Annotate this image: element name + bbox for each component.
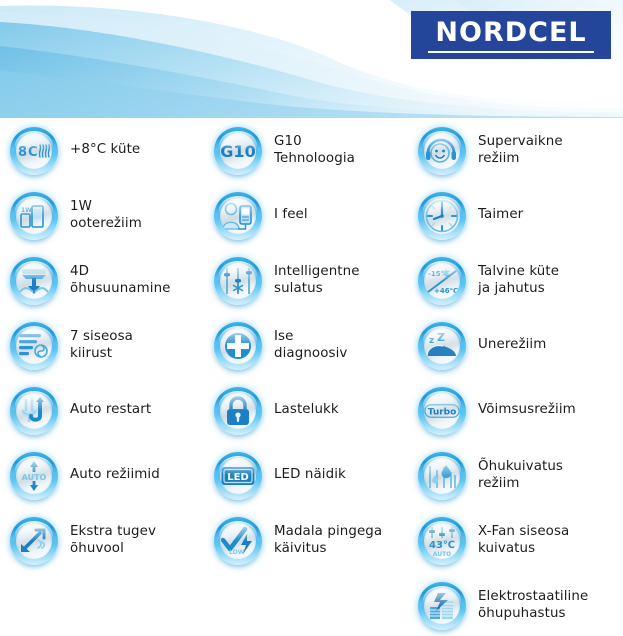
- winter-heating-cooling-icon: -15℃ +46℃: [418, 257, 466, 305]
- feature-item: AUTO Auto režiimid: [4, 443, 209, 508]
- self-diagnosis-icon: [214, 322, 262, 370]
- feature-column-2: G10 G10 Tehnoloogia: [208, 118, 413, 573]
- feature-label: Ise diagnoosiv: [274, 329, 347, 363]
- auto-restart-icon: [10, 387, 58, 435]
- feature-label: 4D õhusuunamine: [70, 264, 171, 298]
- feature-label: X-Fan siseosa kuivatus: [478, 524, 569, 558]
- feature-item: 8 C +8°C küte: [4, 118, 209, 183]
- feature-item: 4D õhusuunamine: [4, 248, 209, 313]
- dehumidify-mode-icon: [418, 452, 466, 500]
- svg-text:z: z: [429, 336, 434, 346]
- feature-label: Madala pingega käivitus: [274, 524, 382, 558]
- super-quiet-mode-icon: [418, 127, 466, 175]
- feature-label: Talvine küte ja jahutus: [478, 264, 559, 298]
- g10-technology-icon: G10: [214, 127, 262, 175]
- feature-label: Auto restart: [70, 402, 151, 419]
- feature-label: +8°C küte: [70, 142, 140, 159]
- x-fan-indoor-drying-icon: 43℃ AUTO: [418, 517, 466, 565]
- seven-fan-speeds-icon: [10, 322, 58, 370]
- feature-label: Ekstra tugev õhuvool: [70, 524, 156, 558]
- one-watt-standby-icon: 1W: [10, 192, 58, 240]
- four-d-airflow-icon: [10, 257, 58, 305]
- header-banner: NORDCEL: [0, 0, 623, 118]
- svg-text:G10: G10: [220, 142, 255, 161]
- feature-label: G10 Tehnoloogia: [274, 134, 355, 168]
- i-feel-icon: [214, 192, 262, 240]
- feature-label: LED näidik: [274, 467, 346, 484]
- feature-column-1: 8 C +8°C küte 1W: [4, 118, 209, 573]
- feature-item: Auto restart: [4, 378, 209, 443]
- feature-item: Turbo Võimsusrežiim: [412, 378, 617, 443]
- feature-item: Ise diagnoosiv: [208, 313, 413, 378]
- svg-text:Turbo: Turbo: [428, 407, 457, 417]
- feature-label: Supervaikne režiim: [478, 134, 563, 168]
- feature-item: Lastelukk: [208, 378, 413, 443]
- feature-label: Auto režiimid: [70, 467, 160, 484]
- feature-label: Taimer: [478, 207, 523, 224]
- feature-label: 1W ooterežiim: [70, 199, 142, 233]
- auto-modes-icon: AUTO: [10, 452, 58, 500]
- feature-column-3: Supervaikne režiim: [412, 118, 617, 636]
- feature-item: LED LED näidik: [208, 443, 413, 508]
- feature-grid: 8 C +8°C küte 1W: [0, 118, 623, 636]
- svg-text:AUTO: AUTO: [22, 473, 47, 482]
- feature-label: Unerežiim: [478, 337, 546, 354]
- feature-item: 43℃ AUTO X-Fan siseosa kuivatus: [412, 508, 617, 573]
- brand-name: NORDCEL: [435, 19, 586, 46]
- feature-poster: NORDCEL 8 C: [0, 0, 623, 636]
- svg-text:LED: LED: [227, 472, 249, 483]
- feature-label: 7 siseosa kiirust: [70, 329, 133, 363]
- feature-item: I feel: [208, 183, 413, 248]
- feature-label: I feel: [274, 207, 308, 224]
- svg-text:+46℃: +46℃: [434, 287, 458, 295]
- feature-item: z Z Unerežiim: [412, 313, 617, 378]
- brand-underline: [428, 51, 594, 53]
- feature-item: -15℃ +46℃ Talvine küte ja jahutus: [412, 248, 617, 313]
- svg-text:43℃: 43℃: [429, 540, 455, 551]
- svg-text:LOW: LOW: [229, 549, 245, 556]
- svg-text:1W: 1W: [21, 207, 32, 214]
- feature-item: Intelligentne sulatus: [208, 248, 413, 313]
- intelligent-defrost-icon: [214, 257, 262, 305]
- feature-item: LOW Madala pingega käivitus: [208, 508, 413, 573]
- low-voltage-startup-icon: LOW: [214, 517, 262, 565]
- svg-text:C: C: [28, 145, 38, 160]
- feature-item: 7 siseosa kiirust: [4, 313, 209, 378]
- electrostatic-air-purification-icon: [418, 582, 466, 630]
- child-lock-icon: [214, 387, 262, 435]
- feature-label: Lastelukk: [274, 402, 339, 419]
- svg-text:Z: Z: [437, 332, 445, 344]
- feature-item: Taimer: [412, 183, 617, 248]
- feature-item: G10 G10 Tehnoloogia: [208, 118, 413, 183]
- sleep-mode-icon: z Z: [418, 322, 466, 370]
- feature-item: Ekstra tugev õhuvool: [4, 508, 209, 573]
- feature-label: Elektrostaatiline õhupuhastus: [478, 589, 588, 623]
- feature-label: Intelligentne sulatus: [274, 264, 360, 298]
- turbo-power-mode-icon: Turbo: [418, 387, 466, 435]
- feature-item: 1W 1W ooterežiim: [4, 183, 209, 248]
- feature-item: Supervaikne režiim: [412, 118, 617, 183]
- feature-item: Elektrostaatiline õhupuhastus: [412, 573, 617, 636]
- brand-logo: NORDCEL: [411, 11, 611, 59]
- feature-item: Õhukuivatus režiim: [412, 443, 617, 508]
- svg-text:AUTO: AUTO: [433, 551, 452, 557]
- timer-icon: [418, 192, 466, 240]
- feature-label: Õhukuivatus režiim: [478, 459, 563, 493]
- plus-8-degrees-heating-icon: 8 C: [10, 127, 58, 175]
- svg-text:8: 8: [18, 145, 27, 160]
- feature-label: Võimsusrežiim: [478, 402, 576, 419]
- led-display-icon: LED: [214, 452, 262, 500]
- extra-strong-airflow-icon: [10, 517, 58, 565]
